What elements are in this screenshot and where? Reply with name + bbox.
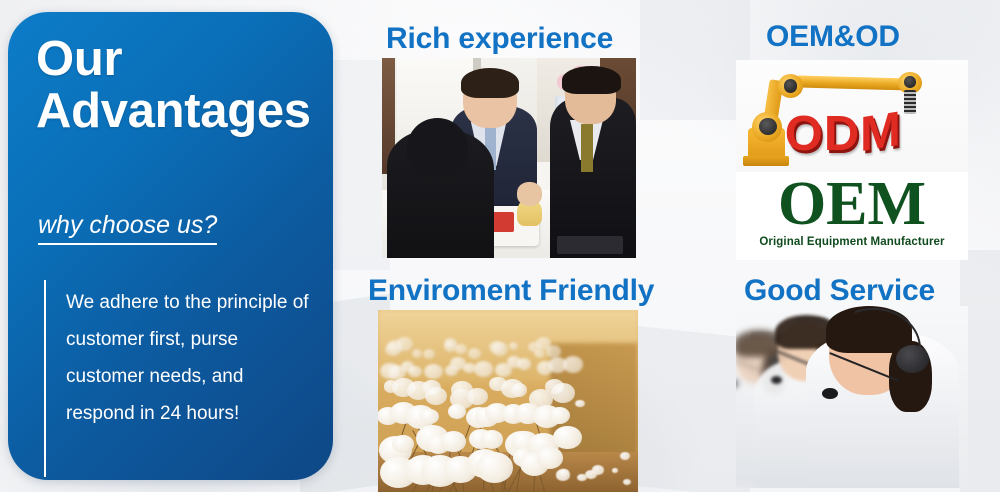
heading-oem-odm: OEM&OD xyxy=(766,20,900,54)
card-title: Our Advantages xyxy=(36,34,319,138)
heading-good-service: Good Service xyxy=(744,274,935,308)
call-center-agents-photo xyxy=(736,306,968,488)
card-title-line2: Advantages xyxy=(36,86,319,138)
oem-caption: Original Equipment Manufacturer xyxy=(736,236,968,248)
business-meeting-photo xyxy=(382,58,636,258)
card-title-line1: Our xyxy=(36,34,319,86)
heading-rich-experience: Rich experience xyxy=(386,22,613,56)
card-subtitle: why choose us? xyxy=(38,212,217,245)
oem-wordmark: OEM xyxy=(736,176,968,232)
odm-wordmark: ODM xyxy=(785,100,966,168)
cotton-field-photo xyxy=(378,310,638,492)
advantages-card: Our Advantages why choose us? We adhere … xyxy=(8,12,333,480)
card-accent-rule xyxy=(44,280,46,477)
promo-banner: Our Advantages why choose us? We adhere … xyxy=(0,0,1000,492)
odm-oem-logo: ODM OEM Original Equipment Manufacturer xyxy=(736,60,968,260)
card-body-text: We adhere to the principle of customer f… xyxy=(66,284,309,432)
heading-enviroment-friendly: Enviroment Friendly xyxy=(368,274,654,308)
odm-text: ODM xyxy=(785,110,902,159)
background-ghost-shape xyxy=(640,0,750,120)
background-ghost-shape xyxy=(330,60,390,270)
